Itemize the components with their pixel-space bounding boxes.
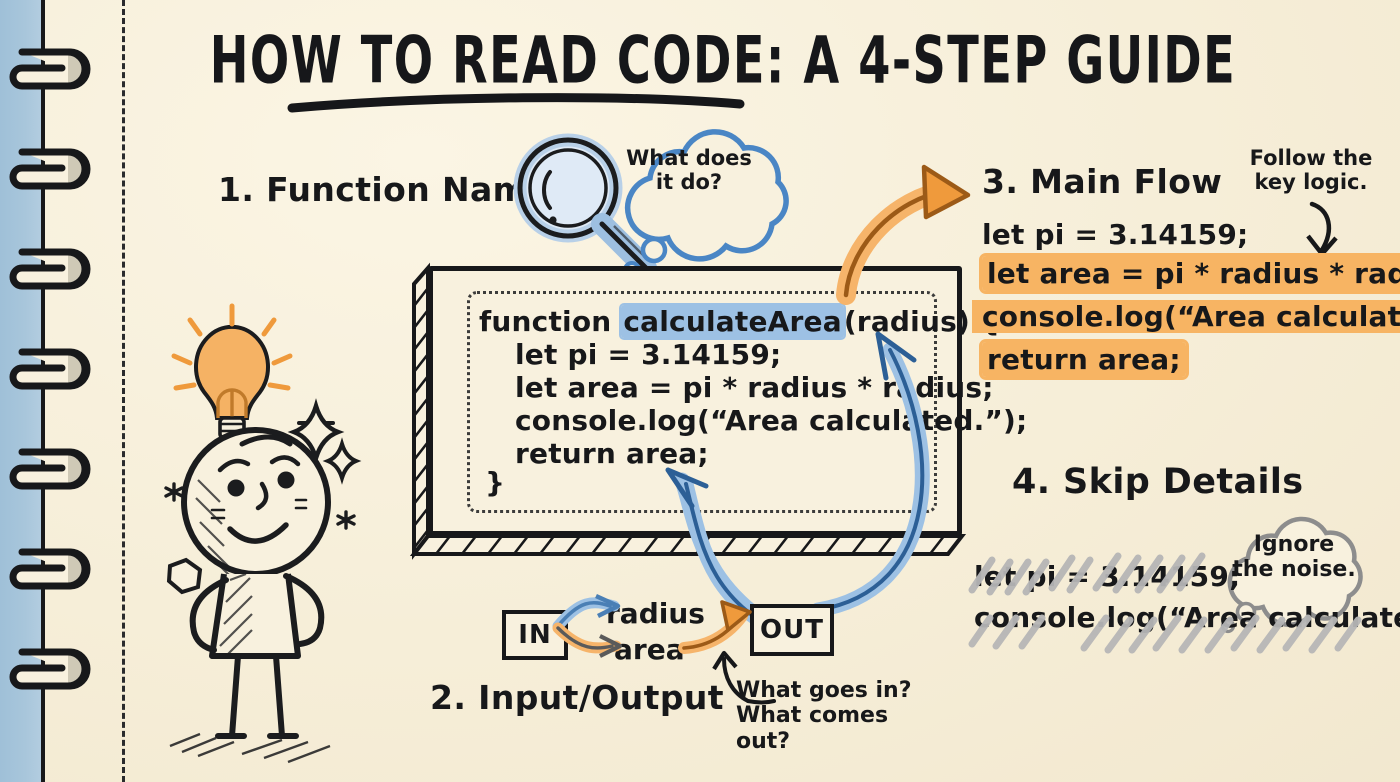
- step-3-line-1: let pi = 3.14159;: [982, 218, 1400, 251]
- step-2-note-line-1: What goes in?: [736, 678, 946, 703]
- step-3-note-line-2: key logic.: [1236, 170, 1386, 194]
- step-3-line-2: let area = pi * radius * radius;: [982, 256, 1400, 291]
- step-1-heading: 1. Function Name: [218, 170, 550, 209]
- title-underline: [0, 0, 1400, 130]
- infographic-page: HOW TO READ CODE: A 4-STEP GUIDE 1. Func…: [0, 0, 1400, 782]
- step-3-note-line-1: Follow the: [1236, 146, 1386, 170]
- bubble-line-2: it do?: [604, 170, 774, 194]
- step-2-note: What goes in? What comes out?: [736, 678, 946, 754]
- step-3-note: Follow the key logic.: [1236, 146, 1386, 194]
- step-2-note-line-2: What comes out?: [736, 703, 946, 754]
- step-1-bubble-text: What does it do?: [604, 146, 774, 194]
- stick-figure-illustration: [146, 284, 426, 754]
- scribble-strikethrough: [966, 548, 1386, 668]
- step-3-heading: 3. Main Flow: [982, 162, 1222, 201]
- lightbulb-icon: [174, 306, 290, 443]
- step-3-code-lines: let pi = 3.14159; let area = pi * radius…: [982, 218, 1400, 376]
- bubble-line-1: What does: [604, 146, 774, 170]
- step-4-heading: 4. Skip Details: [1012, 462, 1304, 502]
- step-3-line-3: console.log(“Area calculated.”);: [982, 300, 1400, 333]
- step-3-line-4: return area;: [982, 342, 1186, 377]
- step-2-heading: 2. Input/Output: [430, 678, 724, 717]
